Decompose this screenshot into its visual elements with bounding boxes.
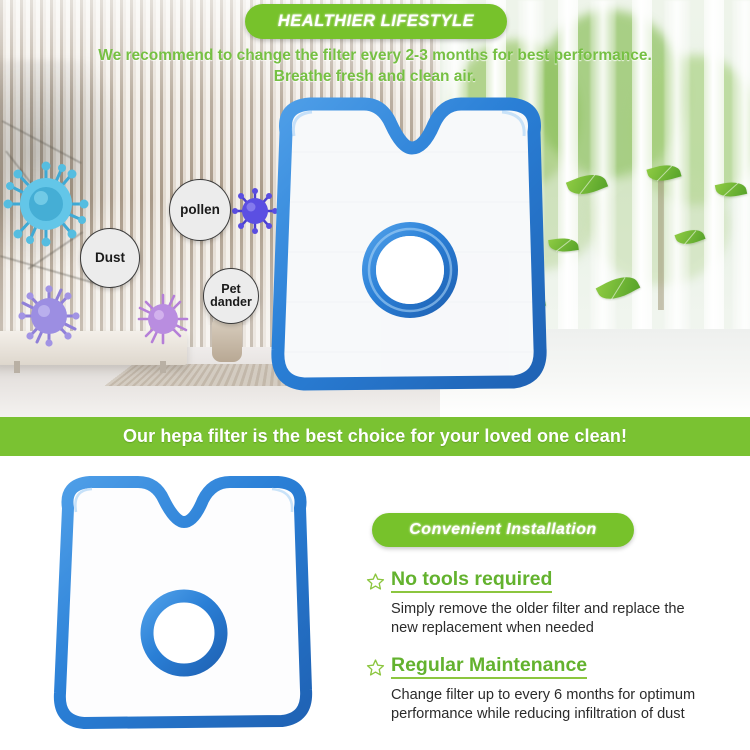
germ-particle-purple — [18, 285, 80, 347]
promo-banner: Our hepa filter is the best choice for y… — [0, 417, 750, 456]
convenient-installation-badge: Convenient Installation — [372, 513, 634, 547]
convenient-installation-badge-label: Convenient Installation — [409, 521, 597, 539]
healthier-lifestyle-badge: HEALTHIER LIFESTYLE — [245, 4, 507, 39]
allergen-bubble-label: pollen — [180, 203, 220, 218]
healthier-lifestyle-badge-label: HEALTHIER LIFESTYLE — [278, 12, 474, 31]
bottom-section: Convenient Installation No tools require… — [0, 456, 750, 750]
star-icon — [366, 658, 385, 677]
germ-particle-magenta — [136, 292, 190, 346]
virus-icon — [2, 160, 90, 248]
allergen-bubble-pollen: pollen — [169, 179, 231, 241]
headline-line-1: We recommend to change the filter every … — [0, 46, 750, 67]
filter-illustration — [38, 472, 338, 740]
feature-title: Regular Maintenance — [391, 655, 587, 679]
allergen-bubble-label: Pet dander — [210, 283, 252, 310]
virus-icon — [18, 285, 80, 347]
allergen-bubble-pet-dander: Pet dander — [203, 268, 259, 324]
bench-leg — [14, 361, 20, 373]
feature-heading: No tools required — [366, 569, 709, 593]
feature-body: Simply remove the older filter and repla… — [391, 600, 709, 638]
plant-pot — [212, 320, 242, 362]
top-scene: Dust pollen Pet dander — [0, 0, 750, 417]
feature-heading: Regular Maintenance — [366, 655, 709, 679]
feature-title: No tools required — [391, 569, 552, 593]
filter-illustration — [252, 92, 562, 404]
star-icon — [366, 572, 385, 591]
allergen-bubble-dust: Dust — [80, 228, 140, 288]
germ-particle-cyan — [2, 160, 90, 248]
feature-body: Change filter up to every 6 months for o… — [391, 686, 709, 724]
virus-icon — [136, 292, 190, 346]
allergen-bubble-label: Dust — [95, 251, 125, 266]
feature-regular-maintenance: Regular Maintenance Change filter up to … — [366, 655, 709, 724]
filter-center-hole — [154, 603, 214, 663]
feature-no-tools-required: No tools required Simply remove the olde… — [366, 569, 709, 638]
promo-banner-text: Our hepa filter is the best choice for y… — [123, 426, 627, 447]
headline: We recommend to change the filter every … — [0, 46, 750, 88]
filter-center-hole — [376, 236, 444, 304]
hepa-filter-product-secondary — [38, 472, 338, 740]
headline-line-2: Breathe fresh and clean air. — [0, 67, 750, 88]
bench-leg — [160, 361, 166, 373]
hepa-filter-product-main — [252, 92, 562, 404]
